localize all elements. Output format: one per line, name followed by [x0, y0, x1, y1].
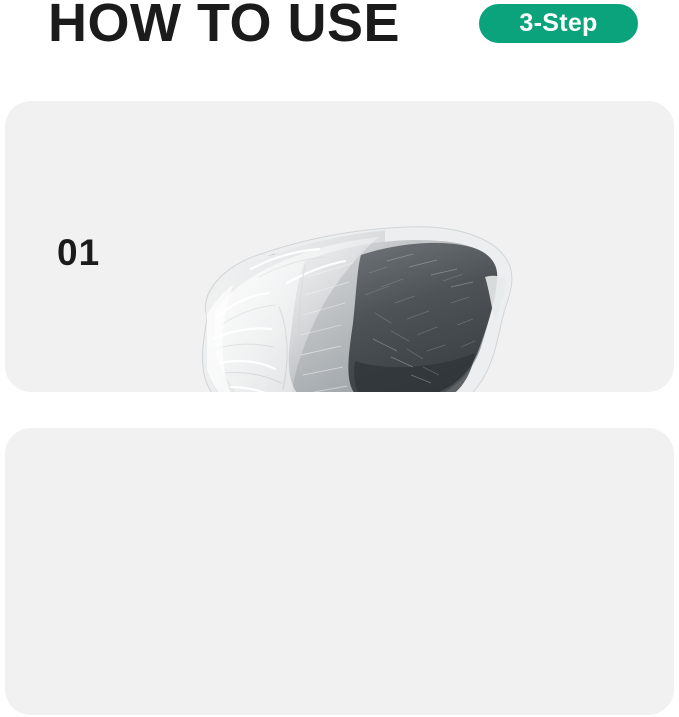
- page-header: HOW TO USE 3-Step: [0, 0, 679, 80]
- step-number-01: 01: [57, 234, 100, 271]
- page-title: HOW TO USE: [48, 0, 400, 50]
- vacuum-sealed-package-image: [155, 221, 555, 392]
- step-count-badge: 3-Step: [479, 4, 638, 43]
- step-count-badge-label: 3-Step: [519, 11, 597, 36]
- step-card-02: 02: [5, 428, 674, 715]
- step-card-01: 01: [5, 101, 674, 392]
